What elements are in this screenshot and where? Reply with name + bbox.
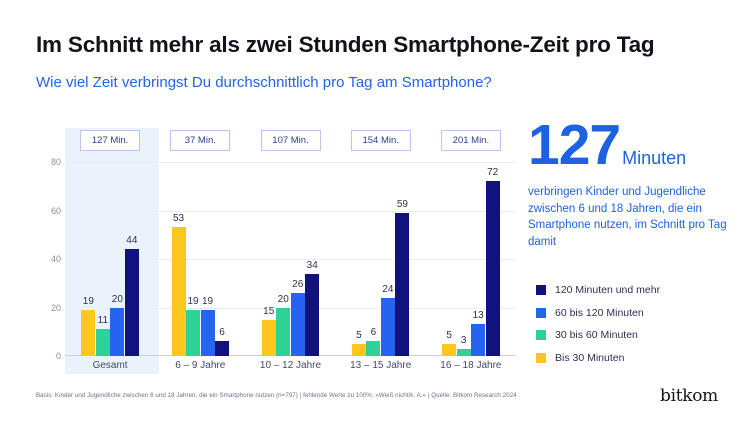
bar-value-label: 24 bbox=[382, 284, 393, 295]
bar-chart: 127 Min.37 Min.107 Min.154 Min.201 Min. … bbox=[36, 122, 516, 374]
y-axis-tick-label: 60 bbox=[21, 206, 61, 216]
page-title: Im Schnitt mehr als zwei Stunden Smartph… bbox=[36, 32, 654, 58]
bar-value-label: 19 bbox=[202, 296, 213, 307]
x-axis-label: 10 – 12 Jahre bbox=[245, 360, 335, 371]
bar-value-label: 6 bbox=[219, 327, 225, 338]
y-axis-tick-label: 80 bbox=[21, 157, 61, 167]
bar-value-label: 44 bbox=[126, 235, 137, 246]
infographic-canvas: Im Schnitt mehr als zwei Stunden Smartph… bbox=[0, 0, 750, 422]
bar: 72 bbox=[486, 181, 500, 356]
source-footnote: Basis: Kinder und Jugendliche zwischen 6… bbox=[36, 392, 517, 399]
minutes-annotation: 37 Min. bbox=[170, 130, 230, 151]
bar-value-label: 15 bbox=[263, 306, 274, 317]
legend-item: 30 bis 60 Minuten bbox=[536, 329, 746, 341]
bar: 20 bbox=[276, 308, 290, 357]
bar: 20 bbox=[110, 308, 124, 357]
x-axis-label: 13 – 15 Jahre bbox=[336, 360, 426, 371]
minutes-annotation: 107 Min. bbox=[261, 130, 321, 151]
legend-item: Bis 30 Minuten bbox=[536, 352, 746, 364]
callout-unit: Minuten bbox=[622, 148, 686, 169]
minutes-annotation: 201 Min. bbox=[441, 130, 501, 151]
bar-group: 1520263410 – 12 Jahre bbox=[245, 162, 335, 356]
bar-value-label: 6 bbox=[371, 327, 377, 338]
bar-group: 53137216 – 18 Jahre bbox=[426, 162, 516, 356]
x-axis-label: Gesamt bbox=[65, 360, 155, 371]
y-axis-tick-label: 20 bbox=[21, 303, 61, 313]
chart-legend: 120 Minuten und mehr60 bis 120 Minuten30… bbox=[536, 284, 746, 374]
bar: 53 bbox=[172, 227, 186, 356]
bar-value-label: 5 bbox=[356, 330, 362, 341]
bar: 19 bbox=[186, 310, 200, 356]
bar: 11 bbox=[96, 329, 110, 356]
bar-value-label: 13 bbox=[473, 310, 484, 321]
bar: 44 bbox=[125, 249, 139, 356]
legend-label: 60 bis 120 Minuten bbox=[555, 307, 644, 319]
bar-value-label: 26 bbox=[292, 279, 303, 290]
bar-value-label: 53 bbox=[173, 213, 184, 224]
bar: 3 bbox=[457, 349, 471, 356]
plot-area: 02040608019112044Gesamt53191966 – 9 Jahr… bbox=[65, 162, 516, 356]
legend-label: 30 bis 60 Minuten bbox=[555, 329, 638, 341]
minutes-annotation: 127 Min. bbox=[80, 130, 140, 151]
callout-description: verbringen Kinder und Jugendliche zwisch… bbox=[528, 184, 740, 251]
bar-value-label: 19 bbox=[83, 296, 94, 307]
minutes-annotation: 154 Min. bbox=[351, 130, 411, 151]
y-axis-tick-label: 40 bbox=[21, 254, 61, 264]
legend-swatch-icon bbox=[536, 285, 546, 295]
legend-item: 60 bis 120 Minuten bbox=[536, 307, 746, 319]
bar-value-label: 3 bbox=[461, 335, 467, 346]
callout-number-row: 127 Minuten bbox=[528, 118, 740, 172]
bitkom-logo: bitkom bbox=[660, 386, 718, 406]
bar-value-label: 20 bbox=[278, 294, 289, 305]
legend-swatch-icon bbox=[536, 308, 546, 318]
x-axis-label: 6 – 9 Jahre bbox=[155, 360, 245, 371]
bar: 13 bbox=[471, 324, 485, 356]
bar-value-label: 11 bbox=[98, 315, 108, 326]
bar: 5 bbox=[352, 344, 366, 356]
legend-label: 120 Minuten und mehr bbox=[555, 284, 660, 296]
legend-item: 120 Minuten und mehr bbox=[536, 284, 746, 296]
bar: 19 bbox=[81, 310, 95, 356]
page-subtitle: Wie viel Zeit verbringst Du durchschnitt… bbox=[36, 74, 492, 91]
bar: 59 bbox=[395, 213, 409, 356]
bar: 26 bbox=[291, 293, 305, 356]
legend-swatch-icon bbox=[536, 353, 546, 363]
bar-value-label: 19 bbox=[187, 296, 198, 307]
bar-group: 56245913 – 15 Jahre bbox=[336, 162, 426, 356]
bar: 6 bbox=[215, 341, 229, 356]
bar: 34 bbox=[305, 274, 319, 356]
bar-value-label: 20 bbox=[112, 294, 123, 305]
bar: 19 bbox=[201, 310, 215, 356]
bar-value-label: 5 bbox=[446, 330, 452, 341]
bar: 24 bbox=[381, 298, 395, 356]
x-axis-label: 16 – 18 Jahre bbox=[426, 360, 516, 371]
bar-value-label: 59 bbox=[397, 199, 408, 210]
legend-label: Bis 30 Minuten bbox=[555, 352, 624, 364]
bar: 15 bbox=[262, 320, 276, 356]
bar-value-label: 72 bbox=[487, 167, 498, 178]
bar-value-label: 34 bbox=[307, 260, 318, 271]
callout-number: 127 bbox=[528, 118, 620, 172]
bar: 5 bbox=[442, 344, 456, 356]
bar-group: 19112044Gesamt bbox=[65, 162, 155, 356]
minutes-annotation-row: 127 Min.37 Min.107 Min.154 Min.201 Min. bbox=[65, 130, 516, 152]
bar: 6 bbox=[366, 341, 380, 356]
legend-swatch-icon bbox=[536, 330, 546, 340]
callout-panel: 127 Minuten verbringen Kinder und Jugend… bbox=[528, 118, 740, 251]
y-axis-tick-label: 0 bbox=[21, 351, 61, 361]
bar-group: 53191966 – 9 Jahre bbox=[155, 162, 245, 356]
